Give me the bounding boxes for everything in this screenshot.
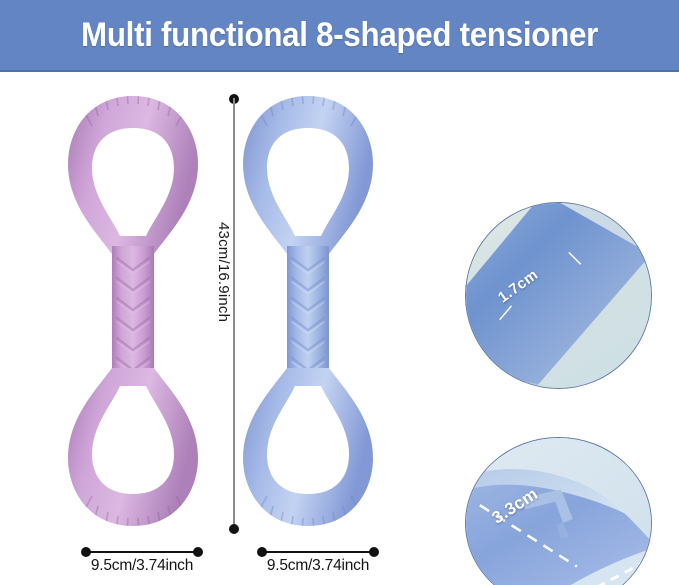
product-stage: 43cm/16.9inch 9.5cm/3.74inch 9.5cm/3.74i… [0, 72, 679, 585]
dimension-dot-bottom [229, 524, 239, 534]
dimension-line [258, 551, 378, 553]
tensioner-purple [58, 86, 208, 536]
tensioner-blue [233, 86, 383, 536]
detail-closeup-width: 3.3cm [465, 437, 652, 585]
width-dimension-blue: 9.5cm/3.74inch [258, 547, 378, 581]
dimension-dot-left [257, 547, 267, 557]
width-dimension-label: 9.5cm/3.74inch [267, 557, 369, 575]
width-dimension-purple: 9.5cm/3.74inch [82, 547, 202, 581]
dimension-dot-left [81, 547, 91, 557]
dimension-dot-right [369, 547, 379, 557]
product-image-page: Multi functional 8-shaped tensioner [0, 0, 679, 585]
dimension-line [233, 98, 235, 530]
dimension-dot-right [193, 547, 203, 557]
width-dimension-label: 9.5cm/3.74inch [91, 557, 193, 575]
length-dimension-label: 43cm/16.9inch [215, 222, 232, 322]
header-banner: Multi functional 8-shaped tensioner [0, 0, 679, 72]
detail-closeup-thickness: 1.7cm [465, 202, 652, 389]
page-title: Multi functional 8-shaped tensioner [27, 0, 652, 70]
dimension-line [82, 551, 202, 553]
